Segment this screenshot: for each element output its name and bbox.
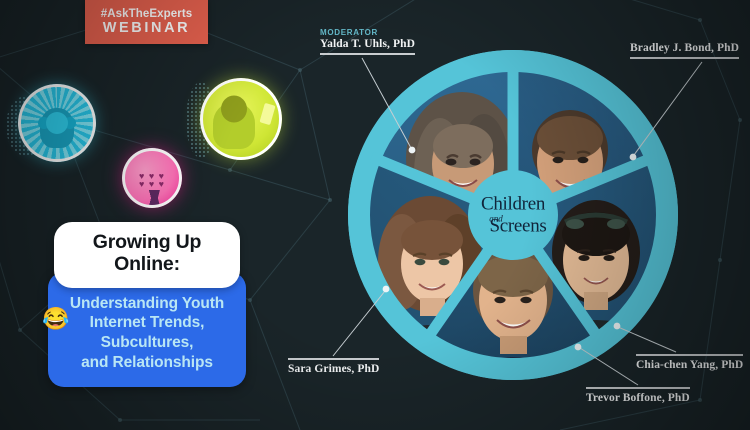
- avatar-cyan-ring: [18, 84, 96, 162]
- children-and-screens-logo: Children and Screens: [465, 195, 561, 236]
- subtitle-line-1: Understanding Youth: [58, 294, 236, 314]
- panelist-name-trevor-boffone: Trevor Boffone, PhD: [586, 392, 690, 404]
- label-underline: [320, 53, 415, 55]
- logo-line-screens: Screens: [475, 217, 561, 236]
- panelist-label-trevor-boffone: Trevor Boffone, PhD: [586, 387, 690, 404]
- label-underline: [586, 387, 690, 389]
- moderator-role-label: MODERATOR: [320, 28, 415, 37]
- label-underline: [636, 354, 743, 356]
- panelist-name-yalda-uhls: Yalda T. Uhls, PhD: [320, 38, 415, 50]
- subtitle-line-4: and Relationships: [58, 353, 236, 373]
- panelist-photo-wheel: Children and Screens: [344, 46, 682, 384]
- label-underline: [288, 358, 379, 360]
- subtitle-line-2: Internet Trends,: [58, 313, 236, 333]
- face-with-tears-of-joy-emoji: 😂: [42, 308, 69, 330]
- avatar-bubble-lime: [200, 78, 282, 160]
- badge-hashtag: #AskTheExperts: [85, 9, 208, 21]
- avatar-lime-ring: [200, 78, 282, 160]
- panelist-label-yalda-uhls: MODERATOR Yalda T. Uhls, PhD: [320, 28, 415, 55]
- avatar-pink-ring: [122, 148, 182, 208]
- avatar-bubble-pink: ♥ ♥ ♥♥ ♥ ♥: [122, 148, 182, 208]
- title-card: Growing Up Online: Understanding Youth I…: [48, 222, 246, 387]
- avatar-bubble-cyan: [18, 84, 96, 162]
- title-subtitle: Understanding Youth Internet Trends, Sub…: [48, 272, 246, 387]
- logo-line-children: Children: [465, 195, 561, 214]
- panelist-label-chia-chen-yang: Chia-chen Yang, PhD: [636, 354, 743, 371]
- webinar-promo-graphic: #AskTheExperts WEBINAR ♥ ♥ ♥♥ ♥ ♥ Growin…: [0, 0, 750, 430]
- panelist-name-sara-grimes: Sara Grimes, PhD: [288, 363, 379, 375]
- panelist-label-bradley-bond: Bradley J. Bond, PhD: [630, 42, 739, 59]
- subtitle-line-3: Subcultures,: [58, 333, 236, 353]
- title-headline: Growing Up Online:: [54, 222, 240, 288]
- panelist-label-sara-grimes: Sara Grimes, PhD: [288, 358, 379, 375]
- panelist-name-chia-chen-yang: Chia-chen Yang, PhD: [636, 359, 743, 371]
- badge-webinar-label: WEBINAR: [85, 21, 208, 36]
- label-underline: [630, 57, 739, 59]
- panelist-name-bradley-bond: Bradley J. Bond, PhD: [630, 42, 739, 54]
- askthexperts-webinar-badge: #AskTheExperts WEBINAR: [85, 0, 208, 44]
